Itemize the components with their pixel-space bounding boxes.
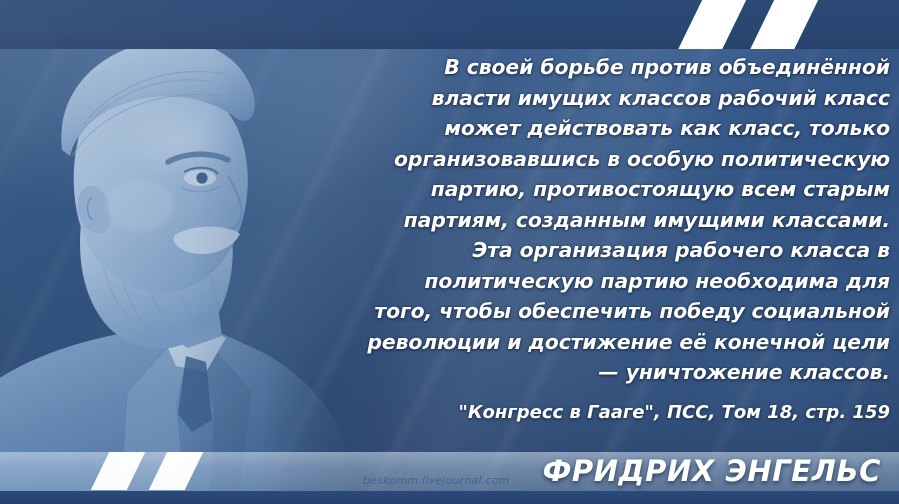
top-accent-band [0, 0, 899, 49]
engels-portrait-image [0, 0, 370, 504]
bottom-dark-strip [0, 491, 899, 504]
portrait-container [0, 0, 370, 504]
quote-source: "Конгресс в Гааге", ПСС, Том 18, стр. 15… [360, 402, 890, 423]
author-name: ФРИДРИХ ЭНГЕЛЬС [543, 454, 881, 488]
quote-text: В своей борьбе против объединённой власт… [360, 52, 890, 388]
quote-block: В своей борьбе против объединённой власт… [360, 52, 890, 423]
portrait-fade-mask [0, 0, 370, 504]
quote-card: В своей борьбе против объединённой власт… [0, 0, 899, 504]
site-credit-link[interactable]: beskomm.livejournal.com [363, 474, 510, 487]
